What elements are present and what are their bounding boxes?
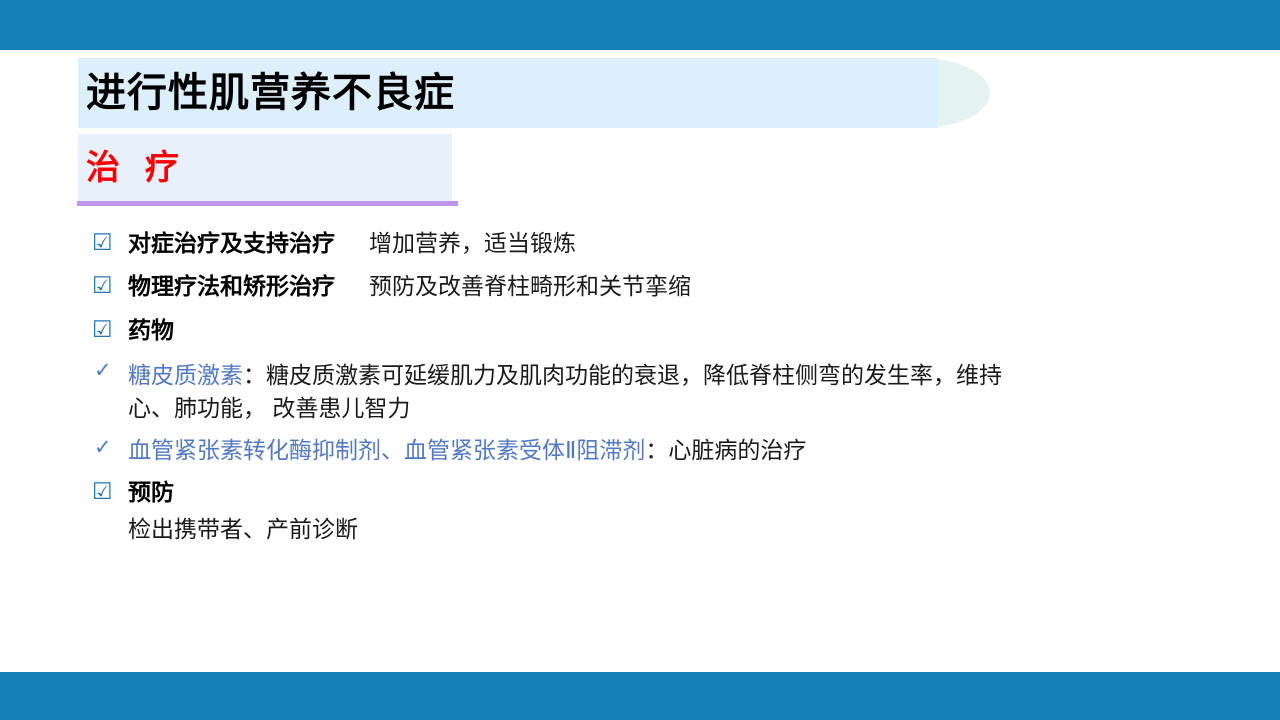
list-item-detail: ：糖皮质激素可延缓肌力及肌肉功能的衰退，降低脊柱侧弯的发生率，维持 bbox=[243, 362, 1002, 388]
list-item-text: 糖皮质激素：糖皮质激素可延缓肌力及肌肉功能的衰退，降低脊柱侧弯的发生率，维持 心… bbox=[128, 358, 1218, 424]
section-heading: 治 疗 bbox=[86, 151, 181, 185]
checkbox-icon: ☑ bbox=[78, 315, 128, 344]
list-item: ☑ 对症治疗及支持治疗增加营养，适当锻炼 bbox=[78, 228, 1218, 258]
list-item-text: 药物 bbox=[128, 315, 1218, 345]
list-item: ☑ 药物 bbox=[78, 315, 1218, 345]
list-item-text: 血管紧张素转化酶抑制剂、血管紧张素受体Ⅱ阻滞剂：心脏病的治疗 bbox=[128, 435, 1218, 465]
list-item-text: 对症治疗及支持治疗增加营养，适当锻炼 bbox=[128, 228, 1218, 258]
list-item-detail: 增加营养，适当锻炼 bbox=[369, 230, 576, 256]
list-item: ☑ 物理疗法和矫形治疗预防及改善脊柱畸形和关节挛缩 bbox=[78, 271, 1218, 301]
checkbox-icon: ☑ bbox=[78, 271, 128, 300]
content-list: ☑ 对症治疗及支持治疗增加营养，适当锻炼 ☑ 物理疗法和矫形治疗预防及改善脊柱畸… bbox=[78, 228, 1218, 544]
page-title: 进行性肌营养不良症 bbox=[86, 73, 455, 113]
title-plate: 进行性肌营养不良症 bbox=[78, 58, 938, 128]
list-item: 检出携带者、产前诊断 bbox=[78, 514, 1218, 544]
list-item-label: 对症治疗及支持治疗 bbox=[128, 230, 335, 256]
slide-title-block: 进行性肌营养不良症 bbox=[78, 58, 990, 128]
check-tick-icon: ✓ bbox=[78, 435, 128, 462]
list-item-text: 预防 bbox=[128, 477, 1218, 507]
list-item-detail: ：心脏病的治疗 bbox=[645, 437, 806, 463]
list-item-detail: 检出携带者、产前诊断 bbox=[128, 516, 358, 542]
list-item-term: 血管紧张素转化酶抑制剂、血管紧张素受体Ⅱ阻滞剂 bbox=[128, 437, 645, 463]
list-item: ✓ 糖皮质激素：糖皮质激素可延缓肌力及肌肉功能的衰退，降低脊柱侧弯的发生率，维持… bbox=[78, 358, 1218, 424]
list-item-continuation: 心、肺功能， 改善患儿智力 bbox=[128, 395, 410, 421]
list-item: ☑ 预防 bbox=[78, 477, 1218, 507]
bottom-accent-band bbox=[0, 672, 1280, 720]
checkbox-icon: ☑ bbox=[78, 228, 128, 257]
list-item: ✓ 血管紧张素转化酶抑制剂、血管紧张素受体Ⅱ阻滞剂：心脏病的治疗 bbox=[78, 435, 1218, 465]
subtitle-underline-rule bbox=[77, 201, 458, 206]
list-item-term: 糖皮质激素 bbox=[128, 362, 243, 388]
list-item-label: 药物 bbox=[128, 317, 174, 343]
list-item-text: 检出携带者、产前诊断 bbox=[128, 514, 1218, 544]
check-tick-icon: ✓ bbox=[78, 358, 128, 385]
top-accent-band bbox=[0, 0, 1280, 50]
list-item-label: 物理疗法和矫形治疗 bbox=[128, 273, 335, 299]
list-item-label: 预防 bbox=[128, 479, 174, 505]
list-item-detail: 预防及改善脊柱畸形和关节挛缩 bbox=[369, 273, 691, 299]
list-item-text: 物理疗法和矫形治疗预防及改善脊柱畸形和关节挛缩 bbox=[128, 271, 1218, 301]
subtitle-plate: 治 疗 bbox=[78, 134, 452, 202]
slide-canvas: 进行性肌营养不良症 治 疗 ☑ 对症治疗及支持治疗增加营养，适当锻炼 ☑ 物理疗… bbox=[0, 0, 1280, 720]
checkbox-icon: ☑ bbox=[78, 477, 128, 506]
